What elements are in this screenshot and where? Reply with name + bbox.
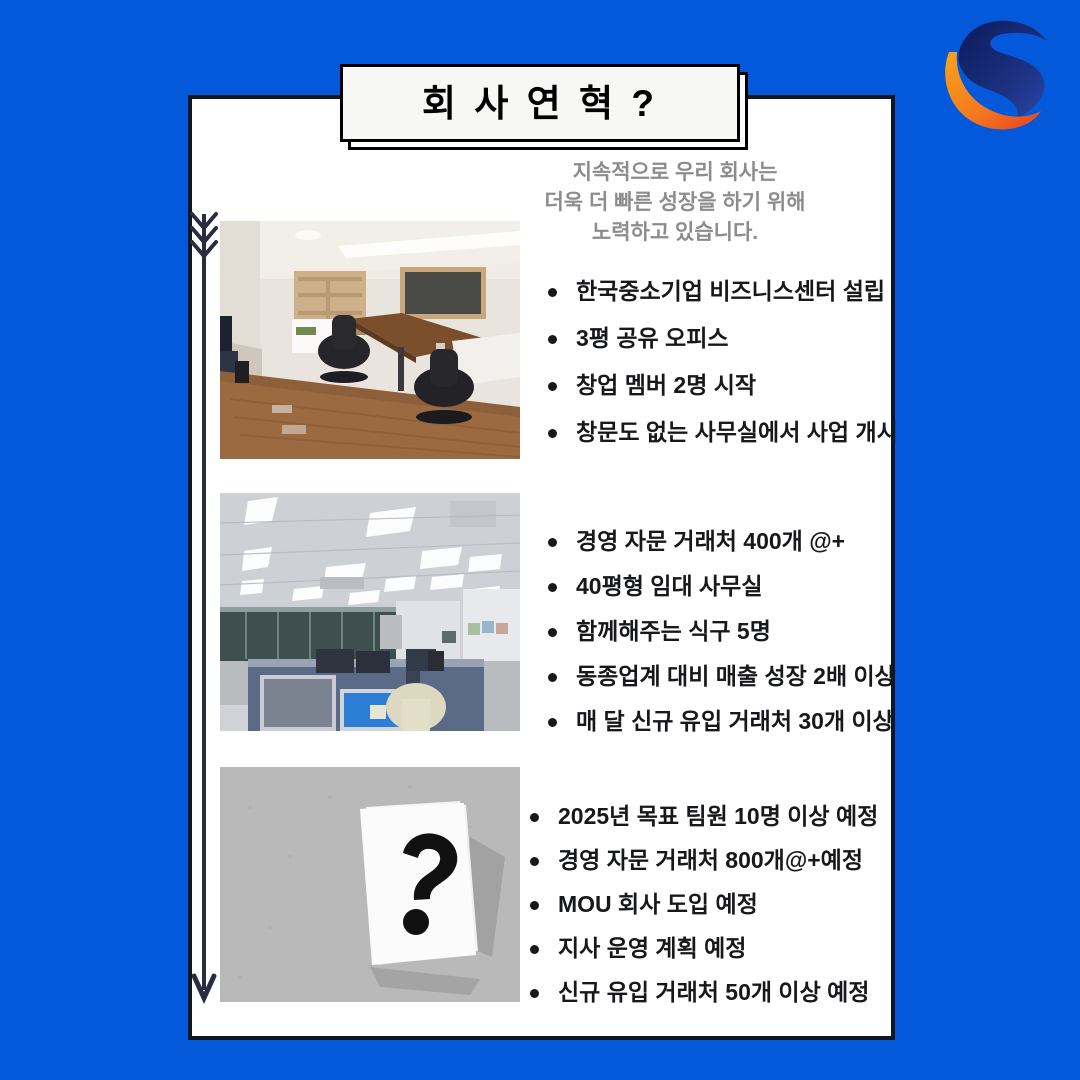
vertical-timeline-arrow <box>186 208 222 1006</box>
small-meeting-room-photo <box>220 221 520 459</box>
list-item: 40평형 임대 사무실 <box>546 575 896 598</box>
list-item: MOU 회사 도입 예정 <box>528 893 878 916</box>
question-mark-papers-photo <box>220 767 520 1002</box>
list-item: 창업 멤버 2명 시작 <box>546 374 898 397</box>
list-item: 한국중소기업 비즈니스센터 설립 <box>546 280 898 303</box>
title-text: 회 사 연 혁 ? <box>422 85 658 122</box>
subtitle-line-2: 더욱 더 빠른 성장을 하기 위해 <box>460 188 890 218</box>
timeline-bullet-list: 한국중소기업 비즈니스센터 설립 3평 공유 오피스 창업 멤버 2명 시작 창… <box>546 280 898 468</box>
list-item: 매 달 신규 유입 거래처 30개 이상 <box>546 710 896 733</box>
list-item: 함께해주는 식구 5명 <box>546 620 896 643</box>
list-item: 2025년 목표 팀원 10명 이상 예정 <box>528 805 878 828</box>
subtitle: 지속적으로 우리 회사는 더욱 더 빠른 성장을 하기 위해 노력하고 있습니다… <box>460 158 890 247</box>
list-item: 창문도 없는 사무실에서 사업 개시 <box>546 421 898 444</box>
timeline-bullet-list: 경영 자문 거래처 400개 @+ 40평형 임대 사무실 함께해주는 식구 5… <box>546 530 896 755</box>
company-s-logo <box>925 10 1070 150</box>
subtitle-line-3: 노력하고 있습니다. <box>460 218 890 248</box>
list-item: 신규 유입 거래처 50개 이상 예정 <box>528 981 878 1004</box>
timeline-bullet-list: 2025년 목표 팀원 10명 이상 예정 경영 자문 거래처 800개@+예정… <box>528 805 878 1025</box>
list-item: 지사 운영 계획 예정 <box>528 937 878 960</box>
list-item: 3평 공유 오피스 <box>546 327 898 350</box>
title-box: 회 사 연 혁 ? <box>340 64 740 142</box>
subtitle-line-1: 지속적으로 우리 회사는 <box>460 158 890 188</box>
list-item: 동종업계 대비 매출 성장 2배 이상 <box>546 665 896 688</box>
open-plan-office-photo <box>220 493 520 731</box>
list-item: 경영 자문 거래처 400개 @+ <box>546 530 896 553</box>
page-title: 회 사 연 혁 ? <box>340 64 740 142</box>
list-item: 경영 자문 거래처 800개@+예정 <box>528 849 878 872</box>
